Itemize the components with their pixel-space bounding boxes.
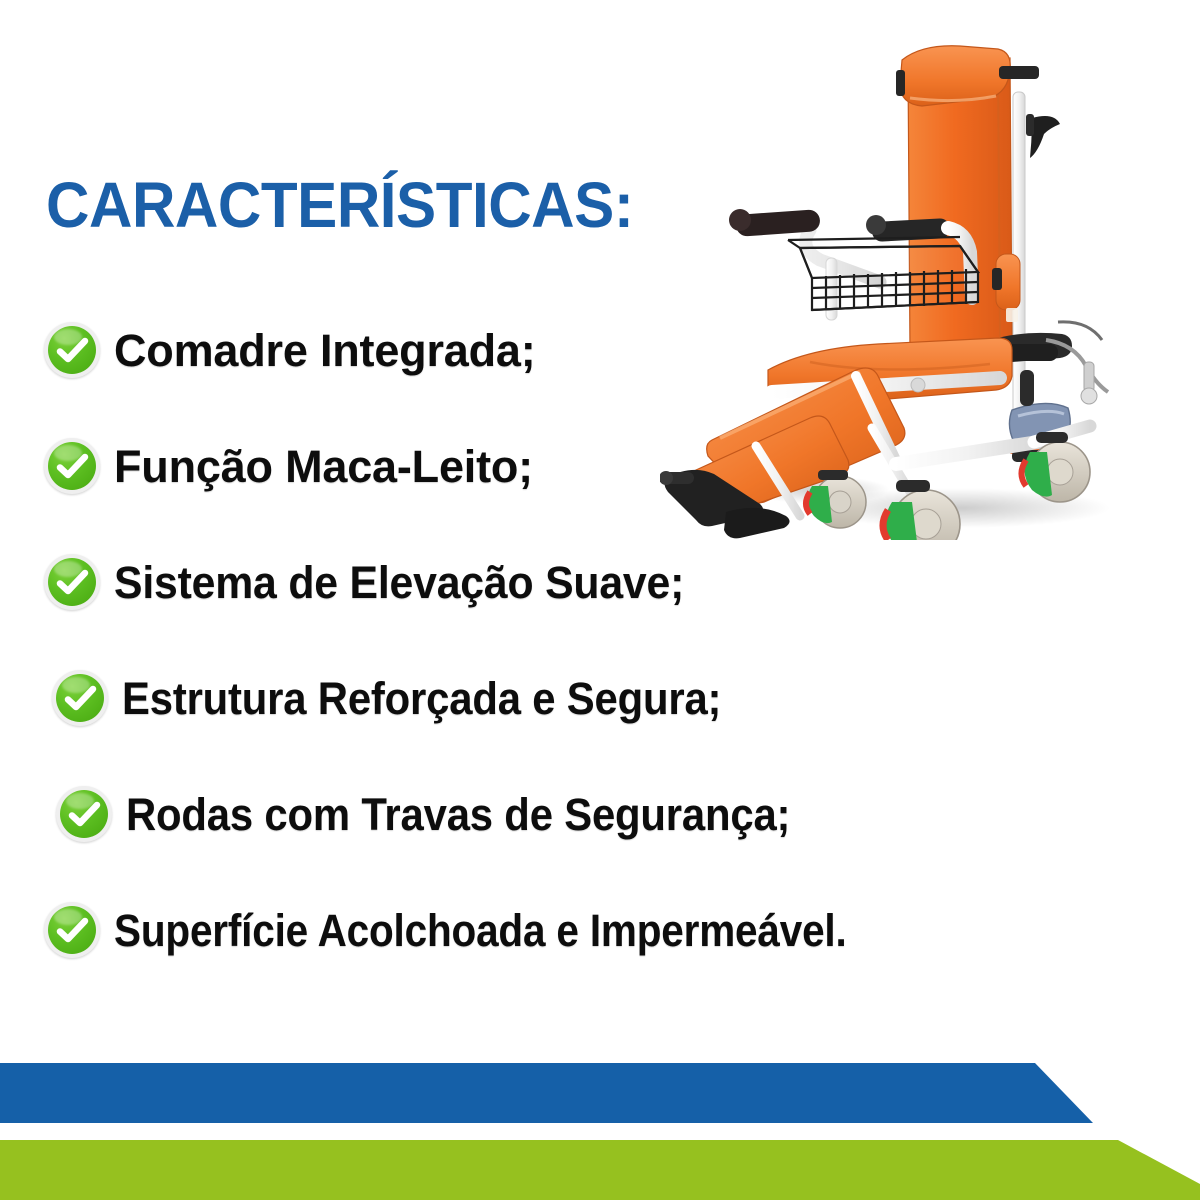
- list-item: Estrutura Reforçada e Segura;: [44, 640, 1134, 756]
- feature-label: Função Maca-Leito;: [114, 444, 533, 489]
- feature-label: Comadre Integrada;: [114, 328, 535, 373]
- green-check-circle-icon: [44, 438, 100, 494]
- green-check-circle-icon: [44, 554, 100, 610]
- product-image: [660, 40, 1160, 540]
- page-title: CARACTERÍSTICAS:: [46, 172, 633, 239]
- green-angled-bar: [0, 1140, 1200, 1200]
- feature-label: Estrutura Reforçada e Segura;: [122, 676, 721, 721]
- green-check-circle-icon: [44, 902, 100, 958]
- green-check-circle-icon: [52, 670, 108, 726]
- list-item: Rodas com Travas de Segurança;: [44, 756, 1134, 872]
- feature-label: Sistema de Elevação Suave;: [114, 560, 684, 605]
- blue-angled-bar: [0, 1063, 1100, 1123]
- green-check-circle-icon: [44, 322, 100, 378]
- feature-label: Rodas com Travas de Segurança;: [126, 792, 790, 837]
- green-check-circle-icon: [56, 786, 112, 842]
- list-item: Sistema de Elevação Suave;: [44, 524, 1134, 640]
- list-item: Superfície Acolchoada e Impermeável.: [44, 872, 1134, 988]
- feature-label: Superfície Acolchoada e Impermeável.: [114, 908, 847, 953]
